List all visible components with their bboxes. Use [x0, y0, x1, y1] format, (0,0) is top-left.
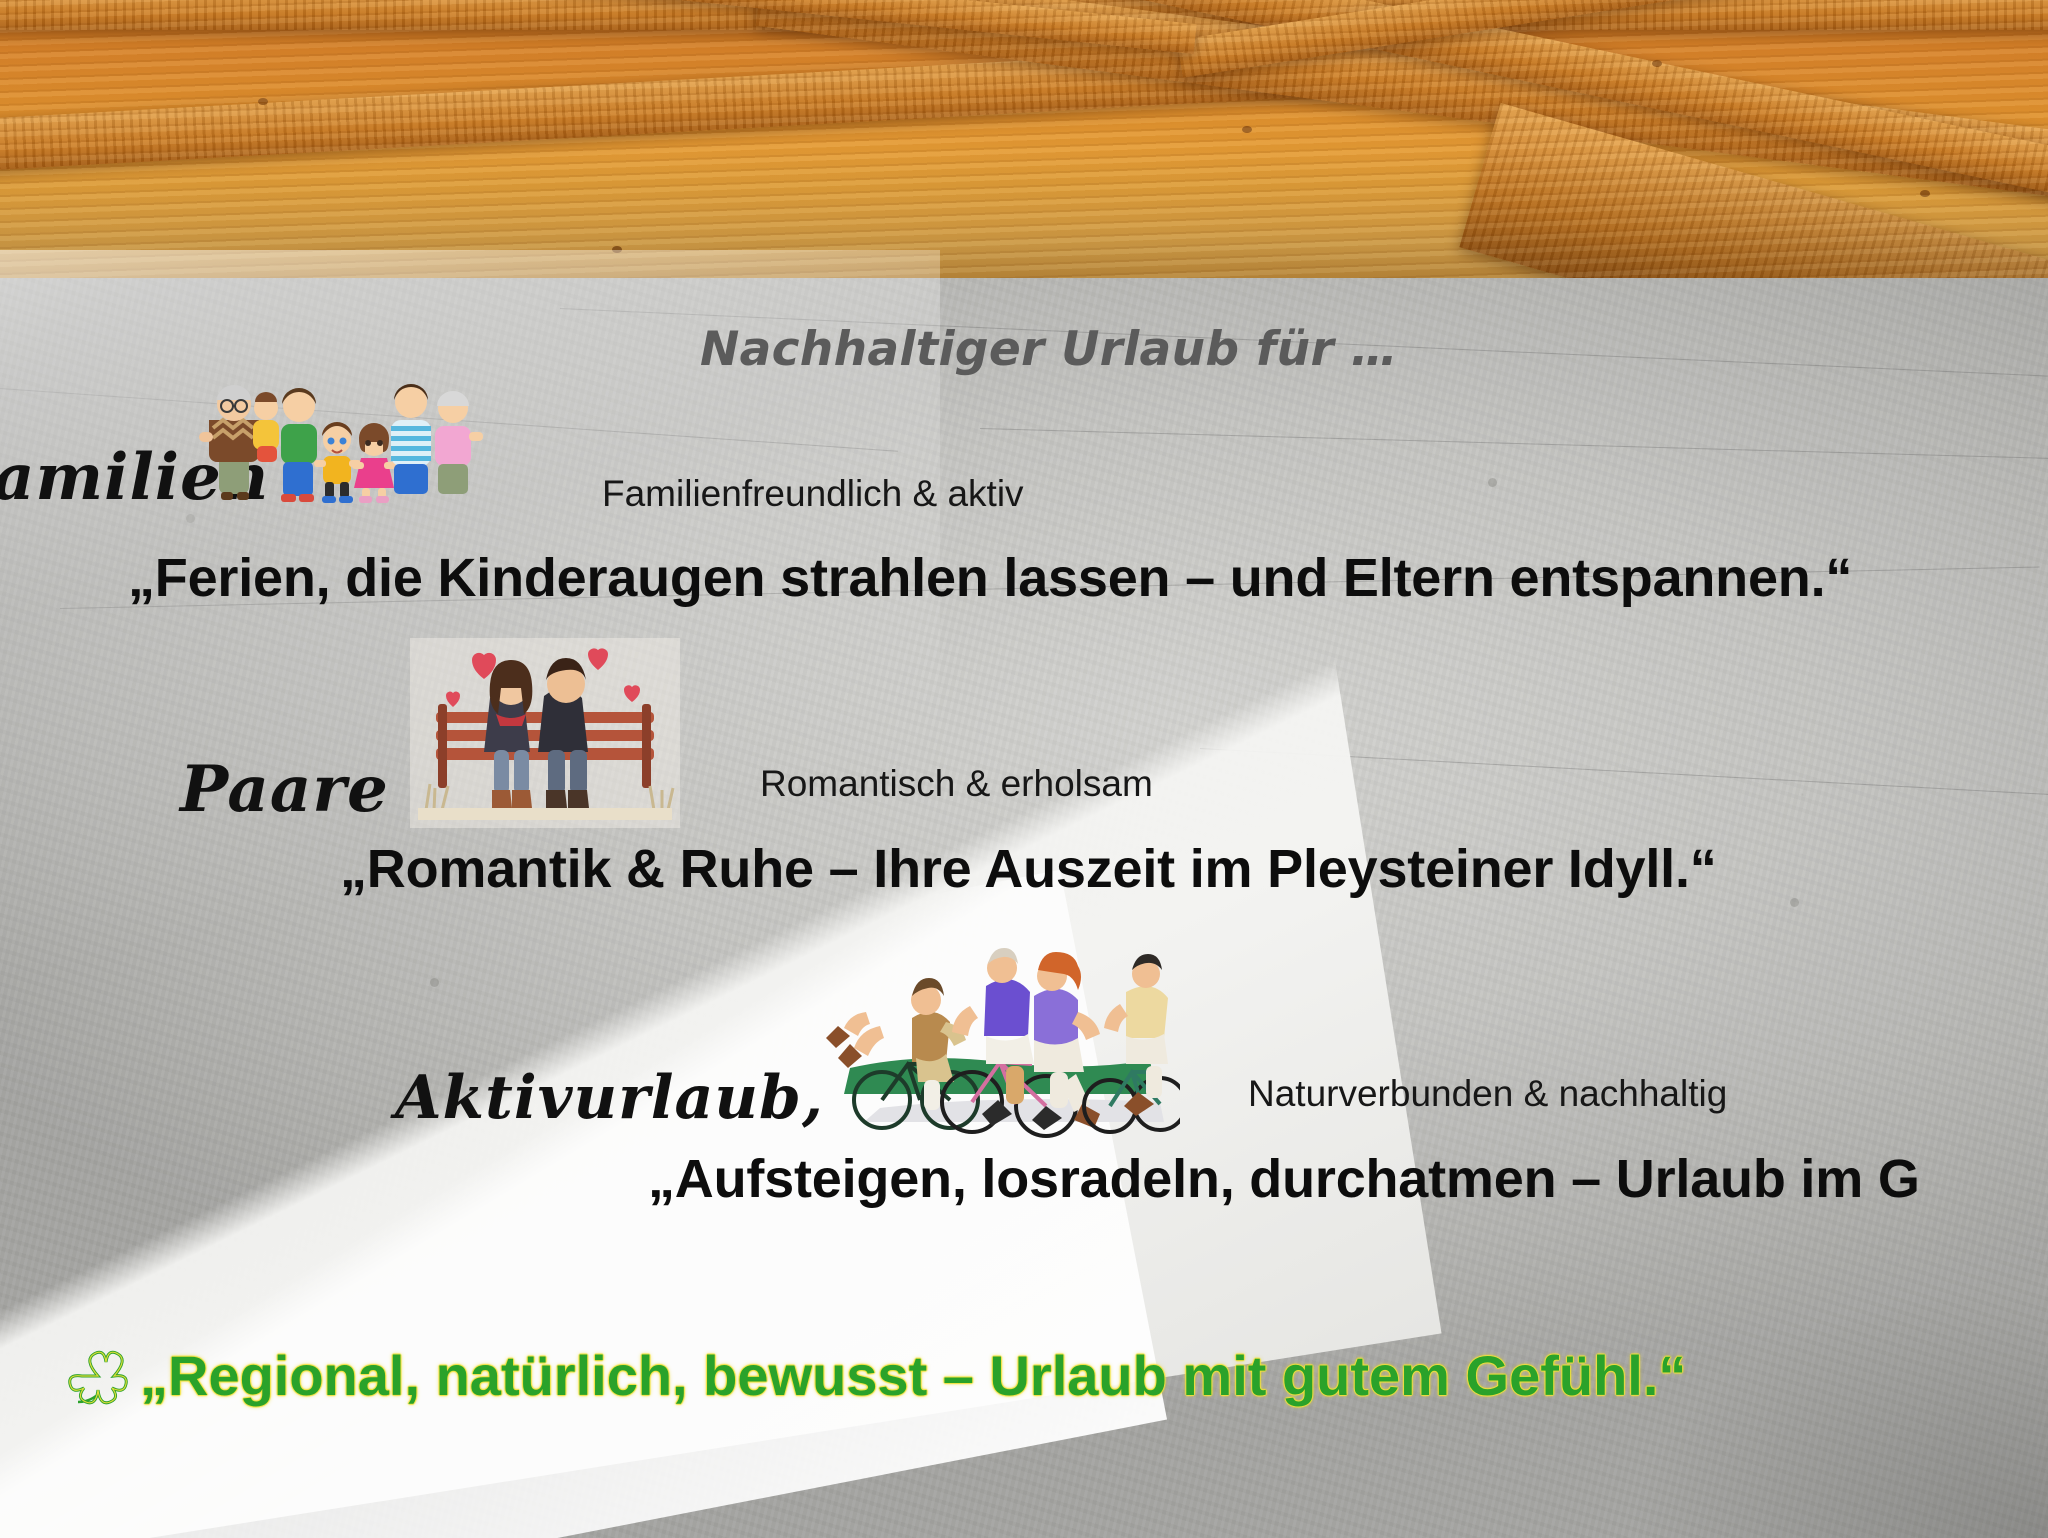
footer-slogan: „Regional, natürlich, bewusst – Urlaub m…	[140, 1343, 1686, 1408]
section-quote-aktivurlaub: „Aufsteigen, losradeln, durchatmen – Url…	[648, 1148, 1920, 1210]
section-label-paare: Paare	[180, 752, 389, 827]
section-quote-paare: „Romantik & Ruhe – Ihre Auszeit im Pleys…	[340, 838, 1717, 900]
section-quote-familien: „Ferien, die Kinderaugen strahlen lassen…	[128, 547, 1852, 609]
section-tagline-aktivurlaub: Naturverbunden & nachhaltig	[1248, 1073, 1727, 1115]
family-clipart	[195, 380, 495, 520]
couple-on-bench-clipart	[410, 638, 680, 828]
cyclists-clipart	[820, 940, 1180, 1140]
section-tagline-familien: Familienfreundlich & aktiv	[602, 473, 1024, 515]
section-tagline-paare: Romantisch & erholsam	[760, 763, 1153, 805]
section-label-aktivurlaub: Aktivurlaub,	[395, 1063, 824, 1133]
presentation-slide: Nachhaltiger Urlaub für … Familien	[0, 0, 2048, 1538]
four-leaf-clover-icon	[68, 1348, 130, 1410]
page-title: Nachhaltiger Urlaub für …	[700, 322, 1398, 377]
